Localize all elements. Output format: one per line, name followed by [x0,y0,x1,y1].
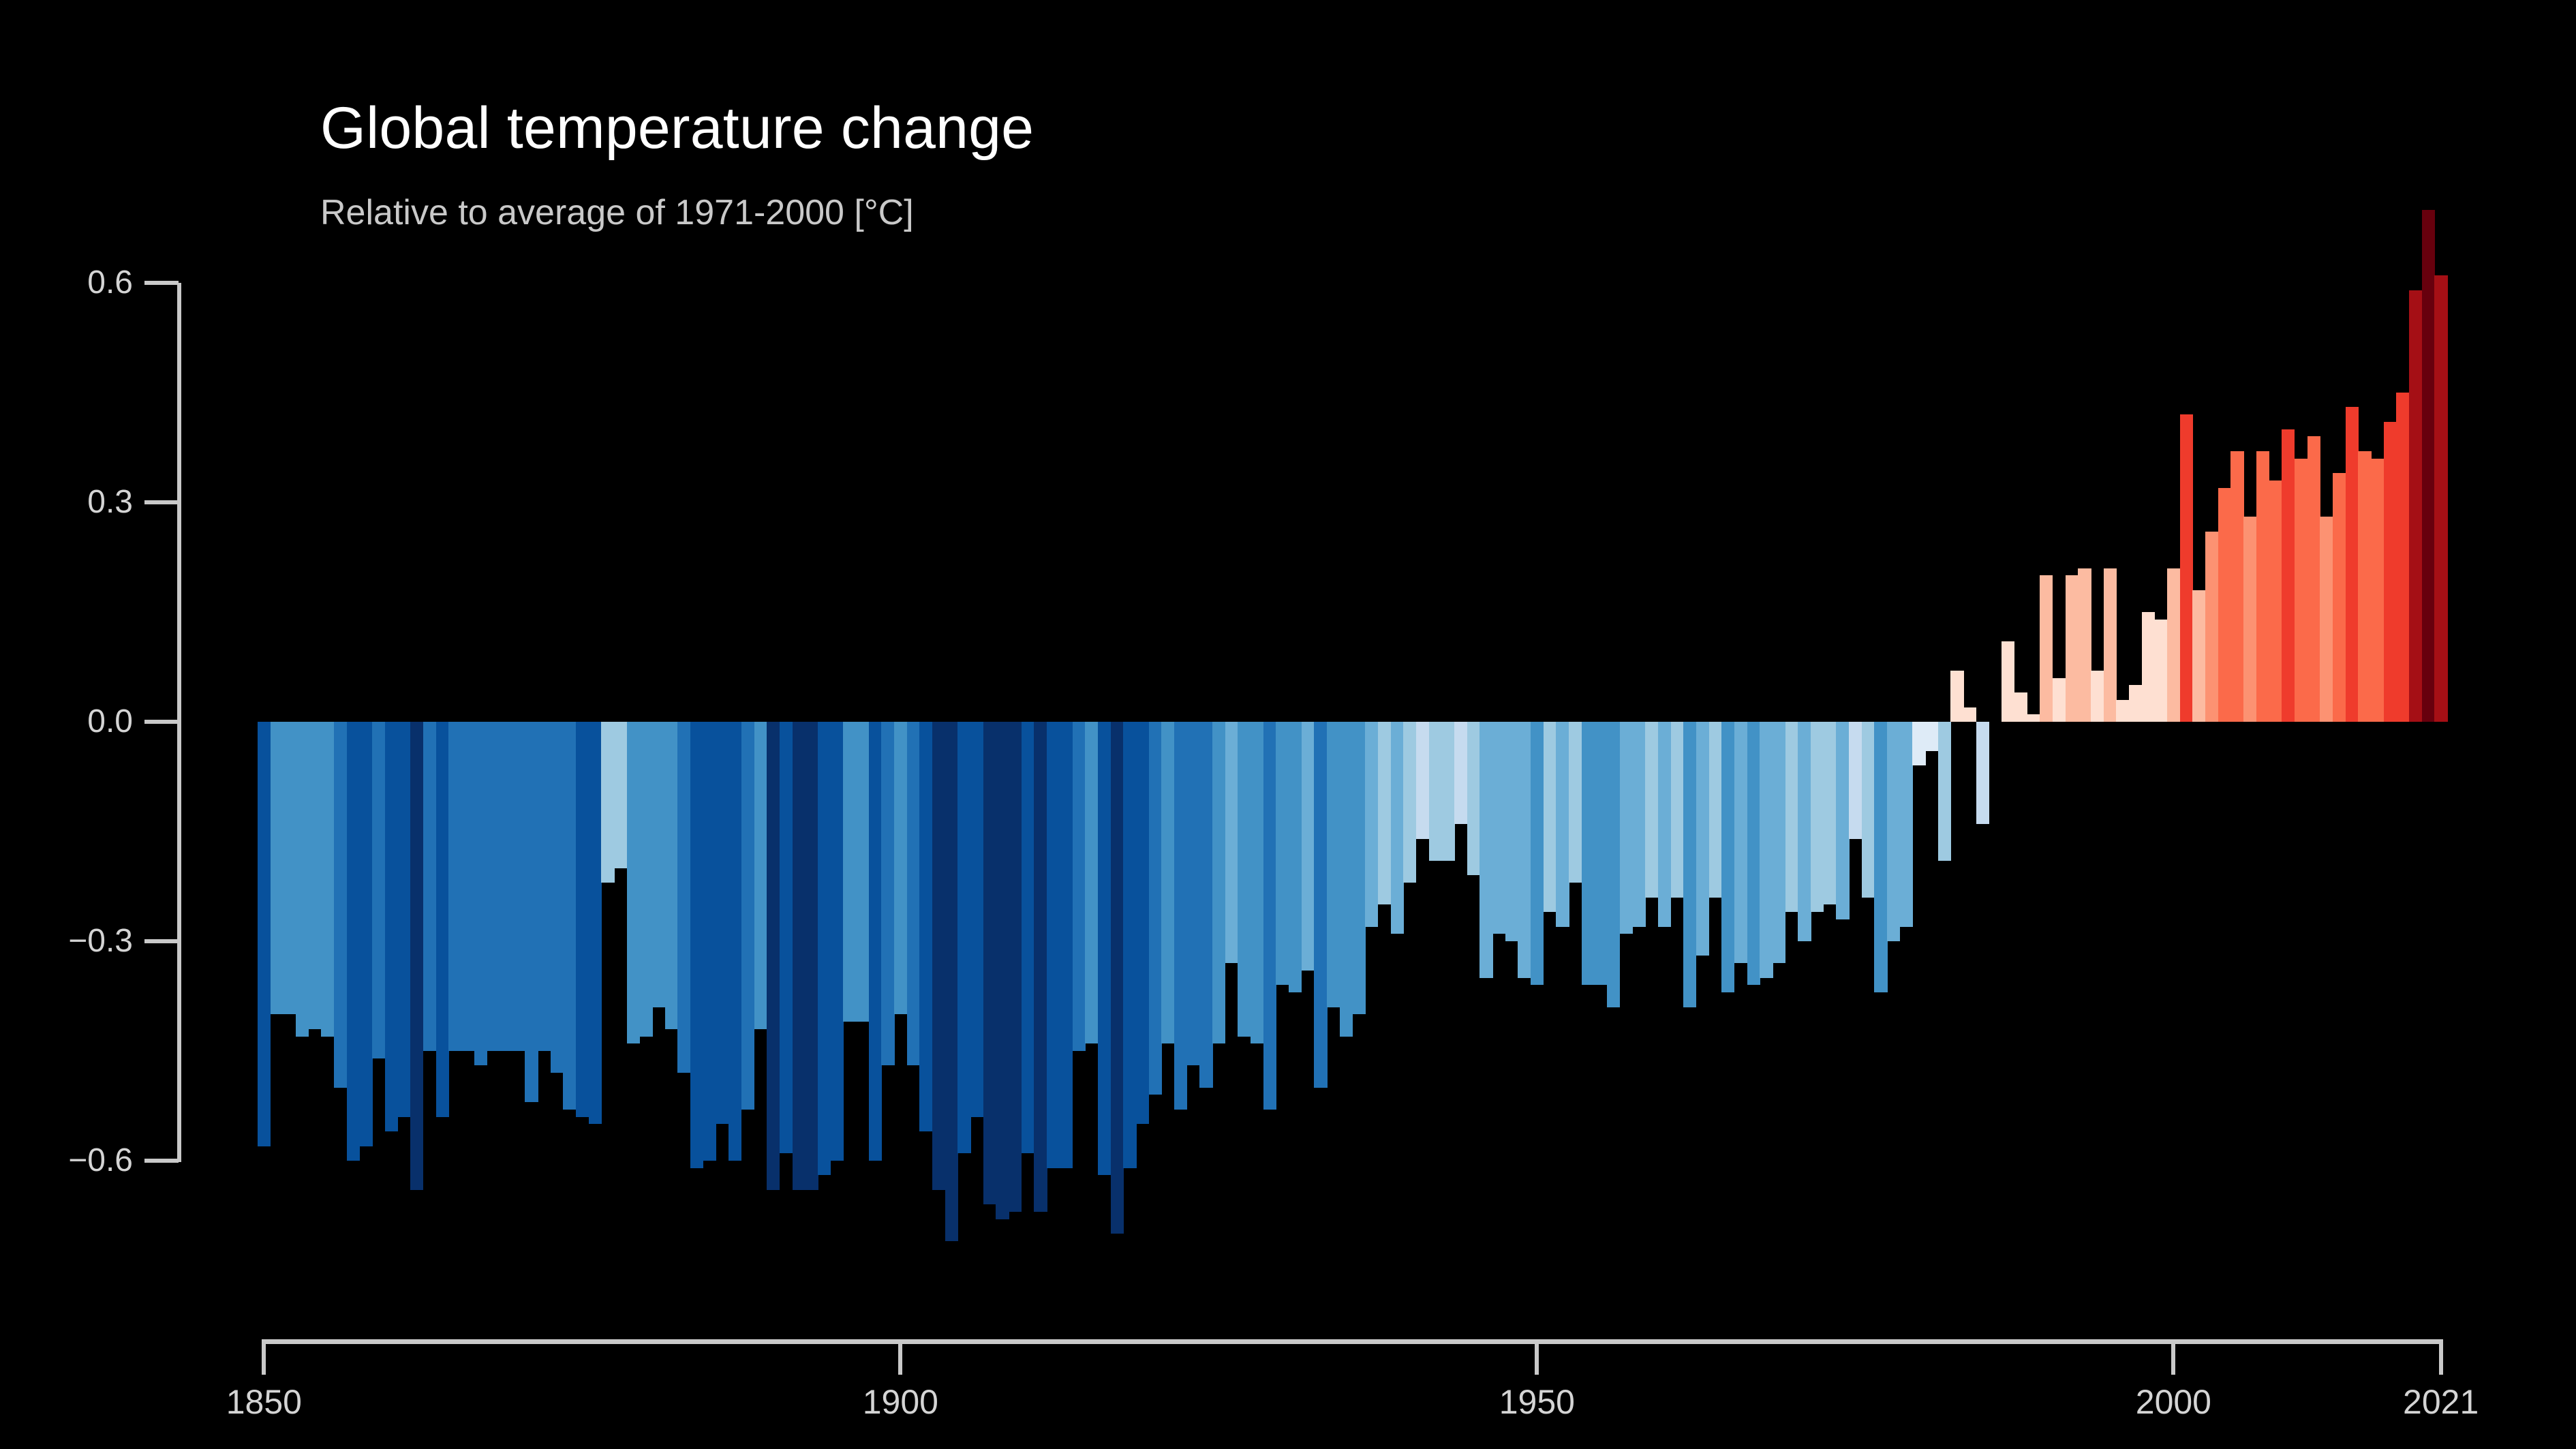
bar-1886 [716,722,729,1124]
bar-1884 [690,722,703,1168]
chart-subtitle: Relative to average of 1971-2000 [°C] [320,195,914,230]
bar-1997 [2129,685,2142,722]
y-axis-spine [177,283,181,1162]
bar-1918 [1123,722,1136,1168]
bar-1970 [1785,722,1798,912]
x-tick [898,1339,902,1375]
bar-1963 [1696,722,1709,956]
bar-1987 [2002,641,2014,722]
bar-1967 [1747,722,1760,985]
bar-1915 [1085,722,1098,1043]
bar-1944 [1454,722,1467,824]
bar-1890 [767,722,780,1190]
bar-1852 [283,722,296,1014]
x-axis-spine [264,1339,2440,1344]
bar-1920 [1149,722,1162,1095]
bar-1978 [1887,722,1900,941]
bar-1869 [500,722,512,1051]
bar-1859 [372,722,385,1058]
bar-1976 [1862,722,1875,898]
bar-1993 [2078,568,2091,722]
bar-2017 [2384,422,2397,722]
y-tick [144,939,179,943]
bar-1916 [1098,722,1111,1175]
bar-1973 [1824,722,1837,904]
bar-2015 [2358,451,2371,722]
bar-1932 [1302,722,1315,971]
bar-1982 [1938,722,1951,861]
bar-1897 [856,722,869,1022]
bar-1885 [703,722,716,1161]
x-tick-label: 1900 [863,1382,938,1422]
bar-1948 [1505,722,1518,941]
bar-1989 [2027,714,2040,722]
bar-1861 [397,722,410,1117]
bar-1956 [1607,722,1620,1007]
bar-2021 [2434,275,2447,722]
bar-1964 [1709,722,1722,898]
chart-canvas: Global temperature change Relative to av… [0,0,2576,1449]
y-tick-label: 0.0 [0,703,133,740]
bar-1891 [780,722,793,1153]
x-tick-label: 2000 [2136,1382,2211,1422]
bar-1906 [970,722,983,1117]
bar-1857 [347,722,360,1161]
bar-1924 [1199,722,1212,1088]
bar-1894 [818,722,831,1175]
bar-1938 [1378,722,1391,904]
bar-1994 [2091,671,2104,722]
bar-1921 [1161,722,1174,1043]
bar-1928 [1251,722,1263,1043]
bar-1864 [436,722,449,1117]
y-tick-label: −0.3 [0,922,133,960]
bar-2002 [2192,590,2205,722]
bar-1965 [1721,722,1734,992]
bar-2013 [2333,473,2346,722]
bar-1854 [309,722,322,1029]
bar-1935 [1340,722,1353,1037]
bar-1930 [1276,722,1289,985]
bar-2000 [2167,568,2180,722]
bar-1851 [271,722,283,1014]
bar-1868 [487,722,500,1051]
bar-1865 [448,722,461,1051]
y-tick-label: 0.3 [0,483,133,521]
bar-2016 [2371,459,2384,722]
bar-1874 [563,722,576,1110]
y-tick-label: −0.6 [0,1142,133,1179]
bar-1979 [1900,722,1913,927]
bar-1912 [1047,722,1060,1168]
bar-1913 [1060,722,1073,1168]
bar-1905 [957,722,970,1153]
bar-1899 [881,722,894,1065]
bar-1972 [1811,722,1824,912]
bar-1995 [2104,568,2117,722]
bar-1991 [2053,678,2066,722]
bar-1957 [1620,722,1633,934]
bar-1959 [1645,722,1658,898]
bar-2009 [2282,429,2295,722]
bar-1941 [1416,722,1429,839]
page-title: Global temperature change [320,99,1034,157]
bar-1866 [461,722,474,1051]
bar-1981 [1925,722,1938,751]
bar-1860 [385,722,398,1131]
bar-1926 [1225,722,1238,963]
bar-1974 [1836,722,1849,919]
bar-1919 [1136,722,1149,1124]
bar-1892 [793,722,806,1190]
bars-container [258,283,2447,1161]
bar-1943 [1441,722,1454,861]
y-tick [144,281,179,285]
bar-1985 [1976,722,1989,824]
bar-1999 [2154,620,2167,722]
bar-1942 [1429,722,1442,861]
bar-1876 [589,722,602,1124]
bar-1937 [1365,722,1378,927]
bar-1867 [474,722,487,1065]
x-tick [2439,1339,2443,1375]
y-tick [144,1159,179,1163]
bar-2014 [2346,407,2359,722]
bar-1902 [919,722,932,1131]
bar-1971 [1798,722,1811,941]
bar-1980 [1912,722,1925,765]
bar-1907 [983,722,996,1204]
bar-1977 [1874,722,1887,992]
bar-1975 [1849,722,1862,839]
bar-1903 [932,722,945,1190]
bar-1962 [1683,722,1696,1007]
bar-1850 [258,722,271,1146]
bar-1909 [1009,722,1022,1212]
bar-1914 [1073,722,1086,1051]
bar-1856 [334,722,347,1088]
bar-2004 [2218,488,2231,722]
x-tick-label: 2021 [2403,1382,2479,1422]
bar-1960 [1658,722,1671,927]
bar-1877 [601,722,614,883]
bar-1929 [1263,722,1276,1110]
bar-1862 [410,722,423,1190]
bar-1888 [741,722,754,1110]
bar-1900 [894,722,907,1014]
bar-2018 [2396,393,2409,722]
bar-1968 [1760,722,1773,978]
bar-1880 [639,722,652,1037]
bar-1983 [1950,671,1963,722]
x-tick-label: 1850 [226,1382,302,1422]
bar-2019 [2409,290,2422,722]
bar-1988 [2014,692,2027,722]
bar-1954 [1582,722,1595,985]
bar-1873 [551,722,564,1073]
bar-1881 [652,722,665,1007]
bar-1953 [1569,722,1582,883]
bar-1998 [2142,612,2155,722]
bar-1910 [1022,722,1034,1153]
bar-1934 [1327,722,1340,1007]
bar-1950 [1531,722,1544,985]
bar-1871 [525,722,538,1102]
x-tick [1535,1339,1539,1375]
bar-1996 [2116,700,2129,722]
bar-1878 [614,722,627,868]
x-tick [2171,1339,2175,1375]
bar-1908 [996,722,1009,1219]
bar-1923 [1187,722,1200,1065]
bar-1901 [907,722,920,1065]
bar-2006 [2243,517,2256,722]
bar-1947 [1492,722,1505,934]
bar-1984 [1963,707,1976,722]
bar-2008 [2269,481,2282,722]
bar-1927 [1238,722,1251,1037]
bar-1961 [1671,722,1684,898]
bar-1895 [831,722,844,1161]
bar-1925 [1212,722,1225,1043]
bar-1951 [1544,722,1557,912]
bar-1870 [512,722,525,1051]
bar-2005 [2230,451,2243,722]
y-tick-label: 0.6 [0,264,133,301]
bar-1939 [1391,722,1404,934]
bar-1875 [576,722,589,1117]
bar-1992 [2066,575,2079,722]
y-tick [144,500,179,504]
bar-1917 [1111,722,1124,1234]
bar-1922 [1174,722,1187,1110]
bar-1933 [1314,722,1327,1088]
bar-1893 [805,722,818,1190]
bar-1887 [729,722,741,1161]
y-tick [144,720,179,724]
bar-2010 [2295,459,2307,722]
bar-1945 [1467,722,1480,875]
bar-1858 [359,722,372,1146]
bar-1872 [538,722,551,1051]
bar-2007 [2256,451,2269,722]
bar-1889 [754,722,767,1029]
bar-1896 [843,722,856,1022]
x-tick [262,1339,266,1375]
bar-1955 [1594,722,1607,985]
bar-1855 [321,722,334,1037]
bar-1879 [627,722,640,1043]
bar-1949 [1518,722,1531,978]
bar-1940 [1403,722,1416,883]
bar-1911 [1034,722,1047,1212]
bar-1883 [677,722,690,1073]
bar-1904 [945,722,958,1241]
x-tick-label: 1950 [1499,1382,1575,1422]
bar-1958 [1632,722,1645,927]
bar-1882 [665,722,678,1029]
bar-1863 [423,722,436,1051]
bar-1898 [869,722,882,1161]
bar-2011 [2307,436,2320,722]
bar-2012 [2320,517,2333,722]
bar-1969 [1773,722,1785,963]
bar-1931 [1289,722,1302,992]
bar-2020 [2422,210,2435,722]
bar-1966 [1734,722,1747,963]
bar-1853 [296,722,309,1037]
bar-2001 [2180,414,2193,722]
bar-1946 [1479,722,1492,978]
bar-2003 [2205,532,2218,722]
bar-1990 [2040,575,2053,722]
bar-1936 [1353,722,1366,1014]
bar-1952 [1556,722,1569,927]
